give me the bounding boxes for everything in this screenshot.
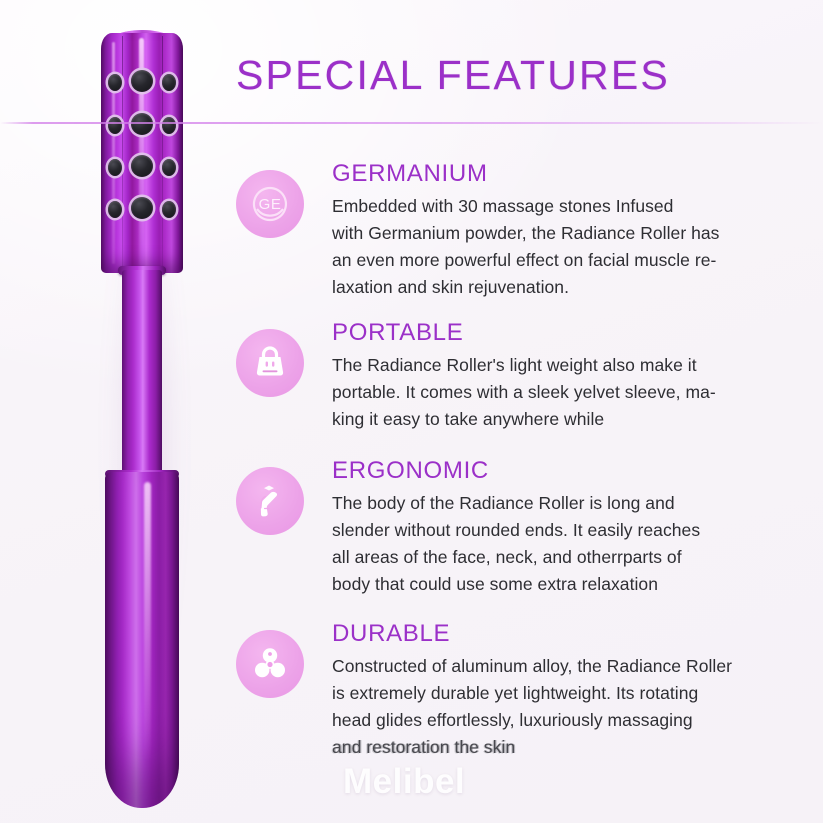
roller-neck-collar: [118, 266, 166, 275]
ge-icon-label: GE: [259, 196, 282, 213]
roller-neck: [122, 270, 162, 476]
handbag-icon: [236, 329, 304, 397]
feature-text-ergonomic: ERGONOMIC The body of the Radiance Rolle…: [304, 457, 796, 598]
feature-item-germanium: GE GERMANIUM Embedded with 30 massage st…: [236, 160, 796, 301]
features-list: GE GERMANIUM Embedded with 30 massage st…: [236, 160, 796, 781]
feature-body-line: portable. It comes with a sleek yelvet s…: [332, 379, 796, 406]
divider-line: [0, 122, 823, 124]
feature-body-line: all areas of the face, neck, and otherrp…: [332, 544, 796, 571]
feature-text-durable: DURABLE Constructed of aluminum alloy, t…: [304, 620, 796, 761]
germanium-stone: [131, 155, 153, 177]
feature-title: GERMANIUM: [332, 160, 796, 188]
feature-text-germanium: GERMANIUM Embedded with 30 massage stone…: [304, 160, 796, 301]
feature-body-line: body that could use some extra relaxatio…: [332, 571, 796, 598]
germanium-stone: [162, 117, 176, 134]
molecule-cluster-icon: [236, 630, 304, 698]
roller-head: [101, 33, 183, 273]
feature-item-ergonomic: ERGONOMIC The body of the Radiance Rolle…: [236, 457, 796, 598]
feature-body: The body of the Radiance Roller is long …: [332, 490, 796, 598]
head-facet-left: [122, 36, 123, 270]
roller-handle: [105, 472, 179, 808]
feature-body-line: slender without rounded ends. It easily …: [332, 517, 796, 544]
feature-title: DURABLE: [332, 620, 796, 648]
product-shadow: [96, 40, 212, 810]
germanium-stone: [108, 74, 122, 91]
feature-text-portable: PORTABLE The Radiance Roller's light wei…: [304, 319, 796, 433]
germanium-stone: [162, 201, 176, 218]
handle-highlight: [144, 482, 151, 762]
handle-collar: [105, 470, 179, 478]
page-title: SPECIAL FEATURES: [236, 52, 670, 99]
head-highlight-secondary: [112, 42, 115, 264]
hand-arm-icon: [236, 467, 304, 535]
feature-body-line: laxation and skin rejuvenation.: [332, 274, 796, 301]
infographic-canvas: SPECIAL FEATURES GE GERMANIUM Embedded w…: [0, 0, 823, 823]
germanium-stone: [108, 201, 122, 218]
germanium-stone: [162, 159, 176, 176]
feature-title: ERGONOMIC: [332, 457, 796, 485]
feature-body-line: with Germanium powder, the Radiance Roll…: [332, 220, 796, 247]
feature-body-line: The Radiance Roller's light weight also …: [332, 352, 796, 379]
feature-body-line: head glides effortlessly, luxuriously ma…: [332, 707, 796, 734]
germanium-stone: [131, 70, 153, 92]
feature-body: The Radiance Roller's light weight also …: [332, 352, 796, 433]
feature-body-line-garbled: and restoration the skin: [332, 734, 796, 761]
feature-body-line: The body of the Radiance Roller is long …: [332, 490, 796, 517]
germanium-stone: [108, 117, 122, 134]
feature-body-line: is extremely durable yet lightweight. It…: [332, 680, 796, 707]
germanium-stone: [131, 197, 153, 219]
feature-body-line: Embedded with 30 massage stones Infused: [332, 193, 796, 220]
feature-item-durable: DURABLE Constructed of aluminum alloy, t…: [236, 620, 796, 761]
feature-body: Constructed of aluminum alloy, the Radia…: [332, 653, 796, 761]
head-highlight-primary: [139, 38, 144, 266]
germanium-stone: [162, 74, 176, 91]
head-facet-right: [162, 36, 163, 270]
feature-body-line: king it easy to take anywhere while: [332, 406, 796, 433]
germanium-stone: [108, 159, 122, 176]
feature-item-portable: PORTABLE The Radiance Roller's light wei…: [236, 319, 796, 433]
feature-title: PORTABLE: [332, 319, 796, 347]
roller-head-cap: [101, 30, 183, 56]
feature-body: Embedded with 30 massage stones Infused …: [332, 193, 796, 301]
germanium-ge-icon: GE: [236, 170, 304, 238]
feature-body-line: Constructed of aluminum alloy, the Radia…: [332, 653, 796, 680]
feature-body-line: an even more powerful effect on facial m…: [332, 247, 796, 274]
germanium-stone: [131, 113, 153, 135]
